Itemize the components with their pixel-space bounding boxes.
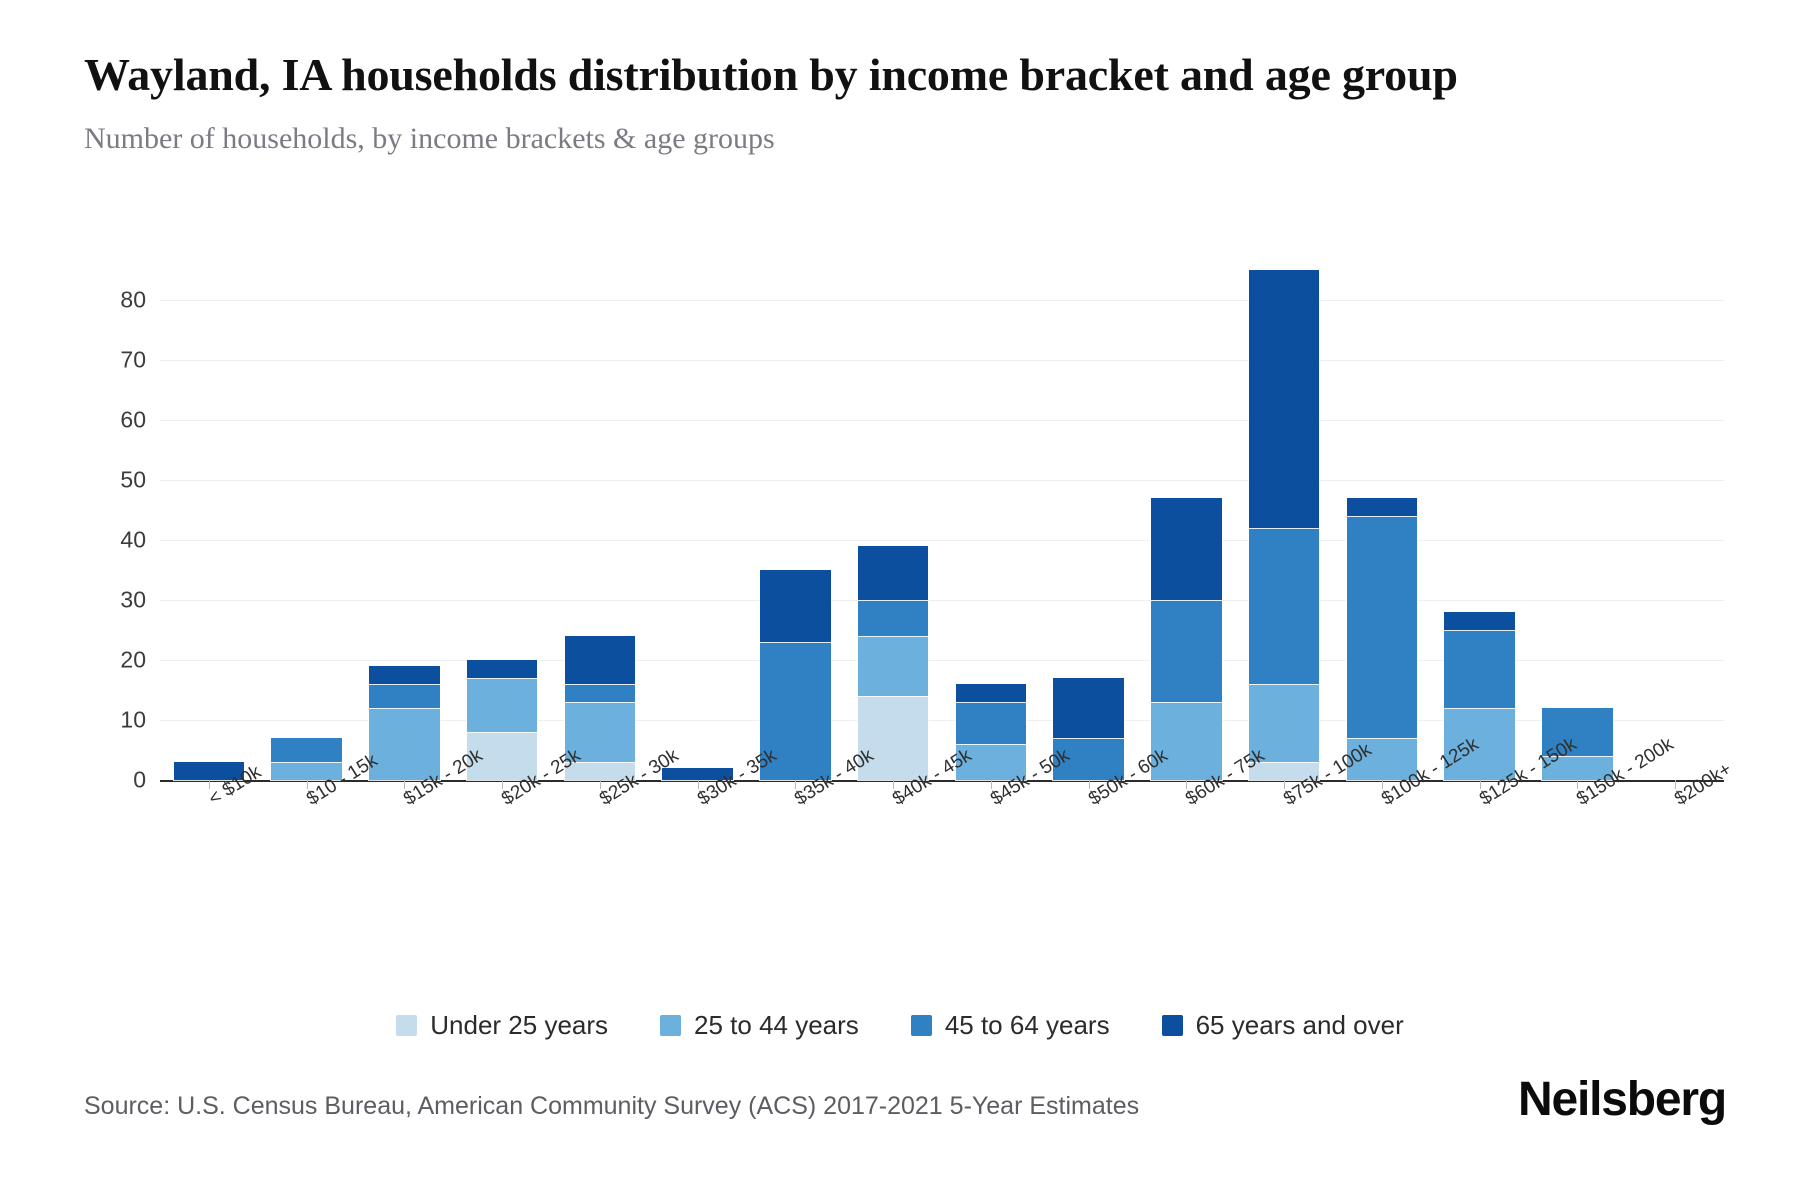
bar-segment[interactable] [956,702,1026,744]
y-tick-label: 70 [120,347,146,374]
x-tick-mark [1186,780,1187,789]
bar-segment[interactable] [1249,528,1319,684]
y-tick-label: 10 [120,707,146,734]
legend-swatch-icon [660,1015,681,1036]
bar-group[interactable] [1542,270,1612,780]
brand-logo: Neilsberg [1518,1072,1726,1127]
legend-label: 25 to 44 years [694,1010,859,1041]
bar-group[interactable] [956,270,1026,780]
legend-item[interactable]: 45 to 64 years [911,1010,1110,1041]
bar-segment[interactable] [369,666,439,684]
bar-group[interactable] [1347,270,1417,780]
legend-label: 45 to 64 years [945,1010,1110,1041]
bar-segment[interactable] [369,684,439,708]
bar-group[interactable] [1249,270,1319,780]
bar-group[interactable] [369,270,439,780]
bar-group[interactable] [565,270,635,780]
legend-swatch-icon [396,1015,417,1036]
bar-segment[interactable] [565,636,635,684]
y-axis: 01020304050607080 [84,270,146,780]
bar-segment[interactable] [467,660,537,678]
bar-group[interactable] [467,270,537,780]
bar-group[interactable] [760,270,830,780]
bar-segment[interactable] [271,738,341,762]
bar-segment[interactable] [1151,600,1221,702]
bar-segment[interactable] [1444,630,1514,708]
legend-label: 65 years and over [1196,1010,1404,1041]
bar-segment[interactable] [858,636,928,696]
x-tick-mark [698,780,699,789]
bar-group[interactable] [271,270,341,780]
x-tick-mark [600,780,601,789]
chart-header: Wayland, IA households distribution by i… [84,46,1644,156]
legend-item[interactable]: 65 years and over [1162,1010,1404,1041]
y-tick-label: 50 [120,467,146,494]
bar-segment[interactable] [565,684,635,702]
x-tick-mark [307,780,308,789]
bar-segment[interactable] [858,546,928,600]
x-tick-mark [404,780,405,789]
bar-segment[interactable] [858,600,928,636]
x-tick-mark [1480,780,1481,789]
x-axis: < $10k$10 - 15k$15k - 20k$20k - 25k$25k … [160,786,1724,916]
bar-group[interactable] [662,270,732,780]
bar-segment[interactable] [1444,612,1514,630]
y-tick-label: 60 [120,407,146,434]
bar-segment[interactable] [1053,678,1123,738]
bar-segment[interactable] [1249,270,1319,528]
chart-plot-area: 01020304050607080 < $10k$10 - 15k$15k - … [84,270,1724,910]
bar-group[interactable] [1053,270,1123,780]
x-tick-mark [893,780,894,789]
x-tick-mark [991,780,992,789]
bar-group[interactable] [1444,270,1514,780]
bar-segment[interactable] [1151,498,1221,600]
legend-label: Under 25 years [430,1010,608,1041]
x-tick-mark [795,780,796,789]
x-tick-mark [209,780,210,789]
x-tick-mark [1089,780,1090,789]
bar-segment[interactable] [1347,516,1417,738]
chart-legend: Under 25 years25 to 44 years45 to 64 yea… [0,1010,1800,1041]
bar-segment[interactable] [467,678,537,732]
y-tick-label: 20 [120,647,146,674]
x-tick-mark [502,780,503,789]
y-tick-label: 40 [120,527,146,554]
legend-swatch-icon [911,1015,932,1036]
bar-segment[interactable] [760,570,830,642]
x-tick-mark [1675,780,1676,789]
bar-group[interactable] [1640,270,1710,780]
y-tick-label: 30 [120,587,146,614]
x-tick-mark [1382,780,1383,789]
source-note: Source: U.S. Census Bureau, American Com… [84,1092,1139,1121]
y-tick-label: 0 [133,767,146,794]
y-tick-label: 80 [120,287,146,314]
chart-subtitle: Number of households, by income brackets… [84,122,1644,156]
bar-series-layer [160,270,1724,780]
legend-swatch-icon [1162,1015,1183,1036]
x-tick-mark [1577,780,1578,789]
chart-footer: Source: U.S. Census Bureau, American Com… [0,1080,1800,1170]
bar-group[interactable] [1151,270,1221,780]
bar-segment[interactable] [956,684,1026,702]
bar-segment[interactable] [1347,498,1417,516]
bar-group[interactable] [858,270,928,780]
legend-item[interactable]: 25 to 44 years [660,1010,859,1041]
legend-item[interactable]: Under 25 years [396,1010,608,1041]
bar-group[interactable] [174,270,244,780]
page-title: Wayland, IA households distribution by i… [84,46,1584,104]
x-tick-mark [1284,780,1285,789]
